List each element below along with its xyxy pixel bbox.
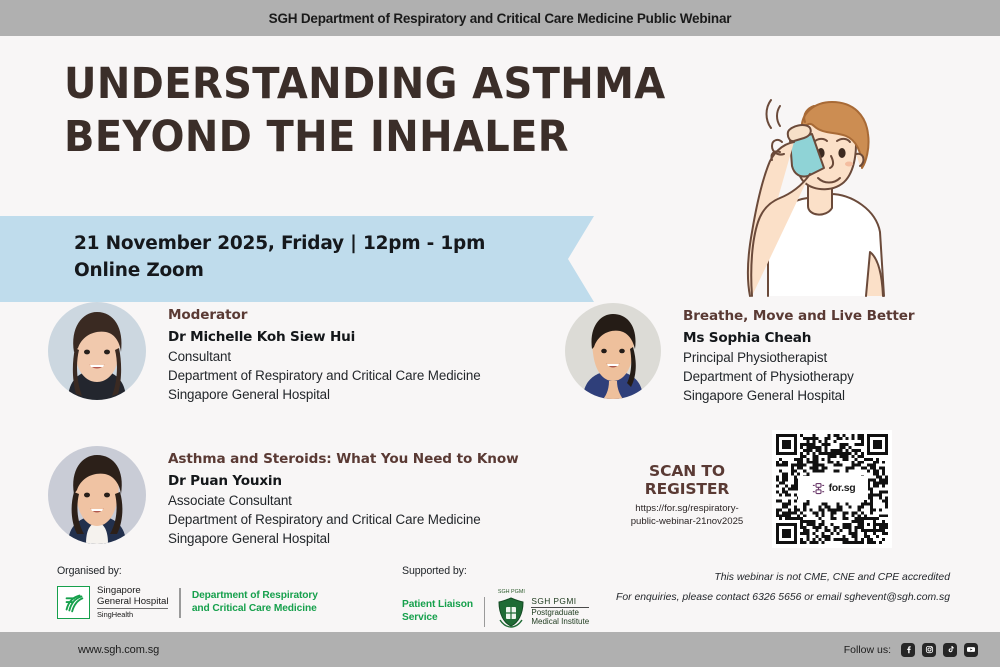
avatar [48, 446, 146, 544]
event-venue: Online Zoom [74, 257, 485, 284]
inhaler-illustration [690, 82, 920, 297]
accreditation-disclaimer: This webinar is not CME, CNE and CPE acc… [616, 572, 950, 583]
enquiries-line: For enquiries, please contact 6326 5656 … [616, 592, 950, 603]
qr-logo-label: for.sg [829, 482, 856, 494]
pls-line-2: Service [402, 612, 473, 625]
pgmi-crest-icon [496, 596, 526, 628]
page-title-line-2: BEYOND THE INHALER [64, 115, 666, 161]
website-url[interactable]: www.sgh.com.sg [78, 644, 159, 656]
supported-by-label: Supported by: [402, 565, 467, 577]
speaker-topic: Asthma and Steroids: What You Need to Kn… [168, 451, 519, 467]
organised-by-label: Organised by: [57, 565, 122, 577]
supporter-logos: Patient Liaison Service SGH PGMI SGH PGM… [402, 590, 589, 633]
singhealth-wordmark: SingHealth [97, 611, 168, 619]
avatar [565, 303, 661, 399]
logo-divider [484, 597, 485, 627]
speaker-department: Department of Respiratory and Critical C… [168, 510, 519, 529]
hero-section: UNDERSTANDING ASTHMA BEYOND THE INHALER … [0, 36, 1000, 266]
register-url: https://for.sg/respiratory- public-webin… [612, 503, 762, 529]
pgmi-logo: SGH PGMI SGH PGMI Postgraduate Medical I… [496, 590, 589, 633]
facebook-icon[interactable] [901, 643, 915, 657]
speaker-role: Principal Physiotherapist [683, 348, 914, 367]
youtube-icon[interactable] [964, 643, 978, 657]
webinar-banner-title: SGH Department of Respiratory and Critic… [269, 11, 732, 26]
bottom-bar: www.sgh.com.sg Follow us: [0, 632, 1000, 667]
speaker-department: Department of Physiotherapy [683, 367, 914, 386]
avatar [48, 302, 146, 400]
qr-center-logo: for.sg [798, 476, 868, 500]
speaker-info: Asthma and Steroids: What You Need to Kn… [168, 446, 519, 548]
page-title: UNDERSTANDING ASTHMA BEYOND THE INHALER [64, 62, 666, 160]
speaker-name: Dr Michelle Koh Siew Hui [168, 328, 481, 347]
speaker-role: Consultant [168, 347, 481, 366]
sgh-logo-icon [57, 586, 90, 619]
patient-liaison-service-wordmark: Patient Liaison Service [402, 599, 473, 625]
speaker-card-associate-consultant: Asthma and Steroids: What You Need to Kn… [48, 446, 519, 548]
speaker-organisation: Singapore General Hospital [168, 529, 519, 548]
follow-us-label: Follow us: [844, 644, 891, 656]
event-datetime: 21 November 2025, Friday | 12pm - 1pm [74, 230, 485, 257]
register-url-line-2: public-webinar-21nov2025 [631, 516, 744, 527]
pgmi-crest-label: SGH PGMI [496, 590, 526, 595]
register-section: SCAN TO REGISTER https://for.sg/respirat… [612, 430, 902, 550]
register-text: SCAN TO REGISTER https://for.sg/respirat… [612, 462, 762, 529]
top-banner: SGH Department of Respiratory and Critic… [0, 0, 1000, 36]
pgmi-wordmark: SGH PGMI Postgraduate Medical Institute [531, 596, 589, 627]
pgmi-line-2: Postgraduate [531, 608, 589, 618]
follow-us-group: Follow us: [844, 643, 978, 657]
department-wordmark: Department of Respiratory and Critical C… [192, 590, 318, 616]
pgmi-line-3: Medical Institute [531, 617, 589, 627]
instagram-icon[interactable] [922, 643, 936, 657]
sgh-logo-wordmark: Singapore General Hospital SingHealth [97, 586, 168, 619]
speaker-card-moderator: Moderator Dr Michelle Koh Siew Hui Consu… [48, 302, 481, 404]
register-url-line-1: https://for.sg/respiratory- [635, 503, 738, 514]
speaker-organisation: Singapore General Hospital [168, 385, 481, 404]
speaker-info: Moderator Dr Michelle Koh Siew Hui Consu… [168, 302, 481, 404]
speaker-topic: Moderator [168, 307, 481, 323]
speaker-info: Breathe, Move and Live Better Ms Sophia … [683, 303, 914, 405]
speaker-card-physiotherapist: Breathe, Move and Live Better Ms Sophia … [565, 303, 914, 405]
speaker-department: Department of Respiratory and Critical C… [168, 366, 481, 385]
sgh-wordmark-line-2: General Hospital [97, 597, 168, 610]
speaker-organisation: Singapore General Hospital [683, 386, 914, 405]
speaker-name: Ms Sophia Cheah [683, 329, 914, 348]
disclaimer-block: This webinar is not CME, CNE and CPE acc… [616, 572, 950, 603]
page-title-line-1: UNDERSTANDING ASTHMA [64, 62, 666, 108]
department-line-2: and Critical Care Medicine [192, 603, 318, 616]
scan-to-register-heading: SCAN TO REGISTER [612, 462, 762, 498]
pgmi-line-1: SGH PGMI [531, 596, 589, 608]
speaker-name: Dr Puan Youxin [168, 472, 519, 491]
for-sg-mark-icon [811, 481, 826, 496]
pls-line-1: Patient Liaison [402, 599, 473, 612]
department-line-1: Department of Respiratory [192, 590, 318, 603]
speaker-role: Associate Consultant [168, 491, 519, 510]
logo-divider [179, 588, 180, 618]
organiser-logos: Singapore General Hospital SingHealth De… [57, 586, 318, 619]
date-ribbon-text: 21 November 2025, Friday | 12pm - 1pm On… [74, 230, 485, 284]
speaker-topic: Breathe, Move and Live Better [683, 308, 914, 324]
tiktok-icon[interactable] [943, 643, 957, 657]
